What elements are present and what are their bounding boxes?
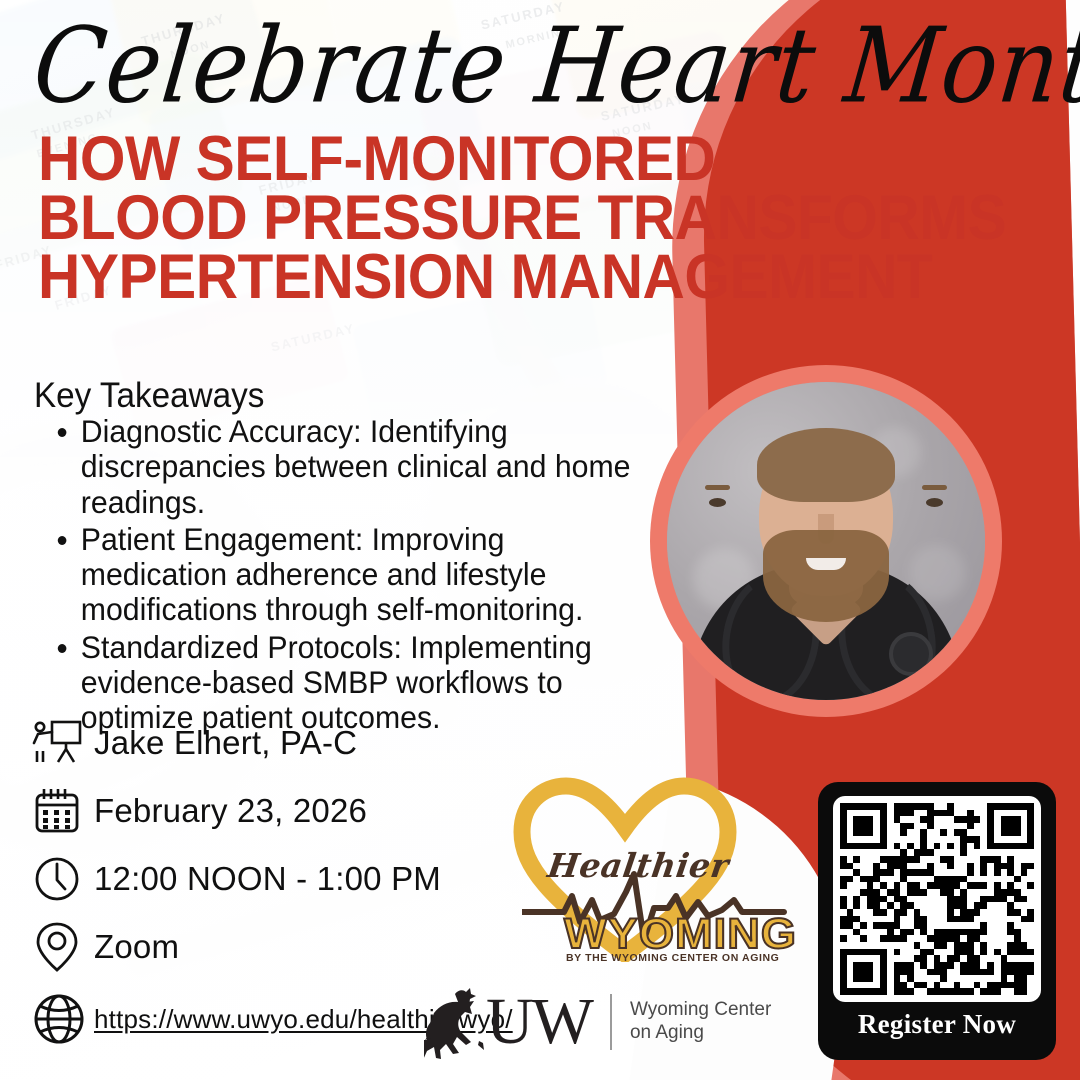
globe-icon — [32, 992, 94, 1046]
qr-code[interactable] — [833, 796, 1041, 1002]
uw-subtitle: Wyoming Center on Aging — [630, 999, 771, 1045]
headline-line-1: HOW SELF-MONITORED — [38, 130, 903, 189]
detail-row-location: Zoom — [32, 916, 513, 978]
headline-line-2: BLOOD PRESSURE TRANSFORMS — [38, 189, 903, 248]
takeaways-heading: Key Takeaways — [34, 376, 264, 416]
event-time: 12:00 NOON - 1:00 PM — [94, 860, 441, 898]
uw-subtitle-line-1: Wyoming Center — [630, 999, 771, 1022]
bucking-horse-icon — [424, 985, 490, 1059]
logo-divider — [610, 994, 612, 1050]
healthier-wyoming-logo: Healthier WYOMING BY THE WYOMING CENTER … — [500, 772, 790, 968]
poster-canvas: THURSDAY NOON SATURDAY MORNING FRIDAY NO… — [0, 0, 1080, 1080]
speaker-photo — [650, 365, 1002, 717]
clock-icon — [32, 854, 94, 904]
list-item: Diagnostic Accuracy: Identifying discrep… — [81, 414, 657, 520]
calendar-icon — [32, 786, 94, 836]
event-location: Zoom — [94, 928, 179, 966]
headline-line-3: HYPERTENSION MANAGEMENT — [38, 248, 903, 307]
detail-row-date: February 23, 2026 — [32, 780, 513, 842]
presenter-icon — [32, 718, 94, 768]
list-item: Patient Engagement: Improving medication… — [81, 522, 657, 628]
register-qr-card[interactable]: Register Now — [818, 782, 1056, 1060]
takeaways-list: Diagnostic Accuracy: Identifying discrep… — [52, 414, 657, 737]
detail-row-speaker: Jake Elhert, PA-C — [32, 712, 513, 774]
detail-row-time: 12:00 NOON - 1:00 PM — [32, 848, 513, 910]
event-date: February 23, 2026 — [94, 792, 367, 830]
logo-tagline: BY THE WYOMING CENTER ON AGING — [566, 952, 779, 964]
uw-subtitle-line-2: on Aging — [630, 1022, 771, 1045]
script-title: Celebrate Heart Month — [29, 14, 1080, 118]
register-now-label: Register Now — [858, 1009, 1016, 1040]
page-title: HOW SELF-MONITORED BLOOD PRESSURE TRANSF… — [38, 130, 903, 308]
speaker-name: Jake Elhert, PA-C — [94, 724, 357, 762]
uw-wordmark: UW — [486, 989, 592, 1055]
uw-logo: UW Wyoming Center on Aging — [424, 982, 771, 1062]
location-pin-icon — [32, 920, 94, 974]
